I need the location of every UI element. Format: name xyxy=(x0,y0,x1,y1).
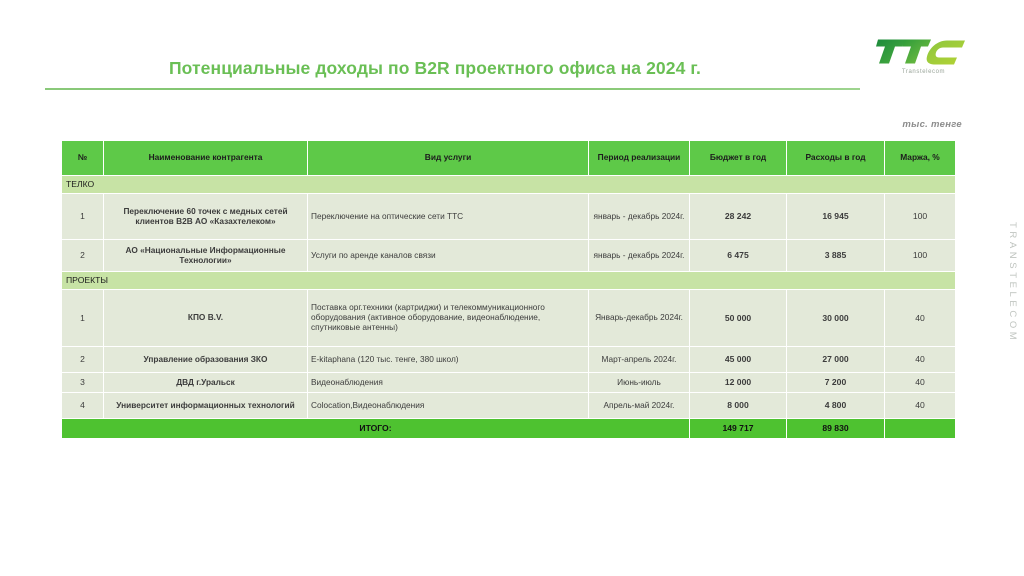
cell-name: АО «Национальные Информационные Технолог… xyxy=(104,240,308,272)
table-header-row: № Наименование контрагента Вид услуги Пе… xyxy=(62,141,956,176)
cell-margin: 40 xyxy=(885,373,956,393)
company-logo: Transtelecom xyxy=(871,30,976,75)
cell-budget: 12 000 xyxy=(690,373,787,393)
cell-period: Апрель-май 2024г. xyxy=(589,393,690,419)
cell-service: Услуги по аренде каналов связи xyxy=(308,240,589,272)
cell-budget: 6 475 xyxy=(690,240,787,272)
cell-margin: 40 xyxy=(885,347,956,373)
column-header-name: Наименование контрагента xyxy=(104,141,308,176)
ttc-logo-icon xyxy=(874,30,974,68)
cell-cost: 27 000 xyxy=(787,347,885,373)
totals-margin xyxy=(885,419,956,439)
cell-num: 2 xyxy=(62,347,104,373)
cell-name: КПО B.V. xyxy=(104,290,308,347)
cell-margin: 100 xyxy=(885,240,956,272)
section-label: ПРОЕКТЫ xyxy=(62,272,956,290)
cell-cost: 7 200 xyxy=(787,373,885,393)
section-label: ТЕЛКО xyxy=(62,176,956,194)
table-row: 3 ДВД г.Уральск Видеонаблюдения Июнь-июл… xyxy=(62,373,956,393)
table-row: 2 АО «Национальные Информационные Технол… xyxy=(62,240,956,272)
cell-budget: 45 000 xyxy=(690,347,787,373)
cell-budget: 28 242 xyxy=(690,194,787,240)
cell-period: январь - декабрь 2024г. xyxy=(589,194,690,240)
cell-cost: 16 945 xyxy=(787,194,885,240)
cell-cost: 3 885 xyxy=(787,240,885,272)
cell-period: Январь-декабрь 2024г. xyxy=(589,290,690,347)
cell-name: Управление образования ЗКО xyxy=(104,347,308,373)
cell-service: E-kitaphana (120 тыс. тенге, 380 школ) xyxy=(308,347,589,373)
table-row: 2 Управление образования ЗКО E-kitaphana… xyxy=(62,347,956,373)
totals-label: ИТОГО: xyxy=(62,419,690,439)
cell-cost: 30 000 xyxy=(787,290,885,347)
logo-subtitle: Transtelecom xyxy=(871,69,976,75)
cell-margin: 100 xyxy=(885,194,956,240)
cell-num: 2 xyxy=(62,240,104,272)
revenue-table-container: № Наименование контрагента Вид услуги Пе… xyxy=(61,140,955,439)
cell-name: Переключение 60 точек с медных сетей кли… xyxy=(104,194,308,240)
cell-num: 3 xyxy=(62,373,104,393)
table-row: 4 Университет информационных технологий … xyxy=(62,393,956,419)
cell-period: январь - декабрь 2024г. xyxy=(589,240,690,272)
column-header-period: Период реализации xyxy=(589,141,690,176)
cell-name: Университет информационных технологий xyxy=(104,393,308,419)
cell-margin: 40 xyxy=(885,393,956,419)
slide-canvas: Потенциальные доходы по B2R проектного о… xyxy=(0,0,1024,576)
section-row-proekty: ПРОЕКТЫ xyxy=(62,272,956,290)
cell-period: Март-апрель 2024г. xyxy=(589,347,690,373)
cell-cost: 4 800 xyxy=(787,393,885,419)
cell-service: Colocation,Видеонаблюдения xyxy=(308,393,589,419)
cell-num: 4 xyxy=(62,393,104,419)
cell-period: Июнь-июль xyxy=(589,373,690,393)
units-caption: тыс. тенге xyxy=(902,119,962,130)
totals-cost: 89 830 xyxy=(787,419,885,439)
page-title: Потенциальные доходы по B2R проектного о… xyxy=(40,58,830,79)
column-header-budget: Бюджет в год xyxy=(690,141,787,176)
table-row: 1 КПО B.V. Поставка орг.техники (картрид… xyxy=(62,290,956,347)
column-header-num: № xyxy=(62,141,104,176)
cell-num: 1 xyxy=(62,194,104,240)
section-row-telko: ТЕЛКО xyxy=(62,176,956,194)
cell-margin: 40 xyxy=(885,290,956,347)
cell-name: ДВД г.Уральск xyxy=(104,373,308,393)
cell-service: Видеонаблюдения xyxy=(308,373,589,393)
side-brand-label: TRANSTELECOM xyxy=(1007,222,1018,343)
title-divider xyxy=(45,88,860,90)
column-header-service: Вид услуги xyxy=(308,141,589,176)
cell-service: Переключение на оптические сети ТТС xyxy=(308,194,589,240)
cell-budget: 8 000 xyxy=(690,393,787,419)
column-header-cost: Расходы в год xyxy=(787,141,885,176)
column-header-margin: Маржа, % xyxy=(885,141,956,176)
totals-row: ИТОГО: 149 717 89 830 xyxy=(62,419,956,439)
cell-budget: 50 000 xyxy=(690,290,787,347)
revenue-table: № Наименование контрагента Вид услуги Пе… xyxy=(61,140,956,439)
totals-budget: 149 717 xyxy=(690,419,787,439)
table-row: 1 Переключение 60 точек с медных сетей к… xyxy=(62,194,956,240)
cell-service: Поставка орг.техники (картриджи) и телек… xyxy=(308,290,589,347)
cell-num: 1 xyxy=(62,290,104,347)
